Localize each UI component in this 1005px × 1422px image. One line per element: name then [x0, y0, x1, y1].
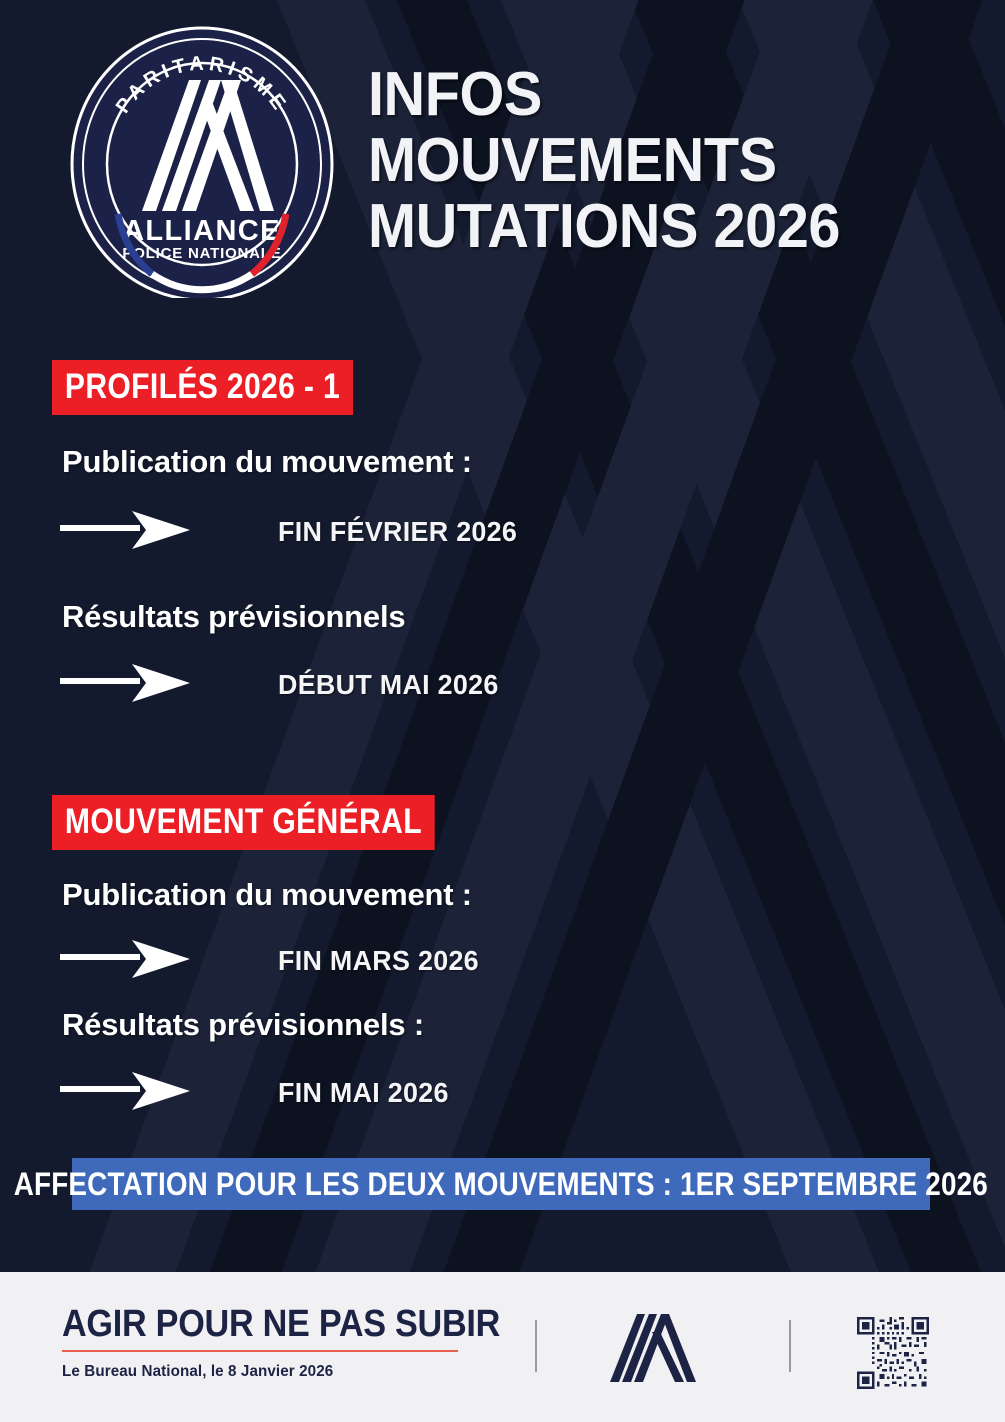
poster-content: PROFILÉS 2026 - 1 Publication du mouveme…: [0, 300, 1005, 1268]
section-0-row-1-label: Résultats prévisionnels: [62, 600, 405, 634]
svg-text:ALLIANCE: ALLIANCE: [123, 215, 281, 247]
section-badge-label: PROFILÉS 2026 - 1: [52, 360, 353, 415]
title-line-1: INFOS: [368, 62, 926, 128]
alliance-a-monogram-icon: [605, 1312, 701, 1384]
title-line-2: MOUVEMENTS: [368, 128, 926, 194]
title-line-3: MUTATIONS 2026: [368, 194, 926, 260]
arrow-right-icon: [60, 1066, 190, 1116]
section-1-row-0: FIN MARS 2026: [60, 934, 760, 990]
section-1-row-1-label: Résultats prévisionnels :: [62, 1008, 424, 1042]
affectation-banner-text: AFFECTATION POUR LES DEUX MOUVEMENTS : 1…: [14, 1167, 988, 1201]
footer-divider-2: [789, 1320, 791, 1372]
alliance-emblem-logo: PARITARISME ALLIANCE POLICE NATIONALE: [68, 18, 336, 298]
section-badge-label: MOUVEMENT GÉNÉRAL: [52, 795, 435, 850]
section-0-row-0-label: Publication du mouvement :: [62, 445, 472, 479]
section-1-row-0-value: FIN MARS 2026: [278, 946, 479, 976]
poster: PARITARISME ALLIANCE POLICE NATIONALE: [0, 0, 1005, 1422]
svg-text:POLICE NATIONALE: POLICE NATIONALE: [122, 245, 281, 262]
poster-footer: AGIR POUR NE PAS SUBIR Le Bureau Nationa…: [0, 1272, 1005, 1422]
poster-header: PARITARISME ALLIANCE POLICE NATIONALE: [0, 0, 1005, 300]
qr-code-icon[interactable]: [857, 1317, 929, 1389]
arrow-right-icon: [60, 934, 190, 984]
section-0-row-1: DÉBUT MAI 2026: [60, 658, 760, 714]
arrow-right-icon: [60, 658, 190, 708]
section-1-row-1-value: FIN MAI 2026: [278, 1078, 449, 1108]
section-badge-profiles: PROFILÉS 2026 - 1: [52, 360, 402, 415]
footer-divider-1: [535, 1320, 537, 1372]
page-title: INFOS MOUVEMENTS MUTATIONS 2026: [368, 62, 968, 260]
footer-rule: [62, 1350, 458, 1352]
section-1-row-1: FIN MAI 2026: [60, 1066, 760, 1122]
section-0-row-0-value: FIN FÉVRIER 2026: [278, 517, 517, 547]
footer-signature: Le Bureau National, le 8 Janvier 2026: [62, 1362, 333, 1382]
section-1-row-0-label: Publication du mouvement :: [62, 878, 472, 912]
section-0-row-1-value: DÉBUT MAI 2026: [278, 670, 499, 700]
section-0-row-0: FIN FÉVRIER 2026: [60, 505, 760, 561]
affectation-banner: AFFECTATION POUR LES DEUX MOUVEMENTS : 1…: [72, 1158, 930, 1210]
section-badge-mouvement-general: MOUVEMENT GÉNÉRAL: [52, 795, 497, 850]
arrow-right-icon: [60, 505, 190, 555]
footer-slogan: AGIR POUR NE PAS SUBIR: [62, 1304, 500, 1344]
